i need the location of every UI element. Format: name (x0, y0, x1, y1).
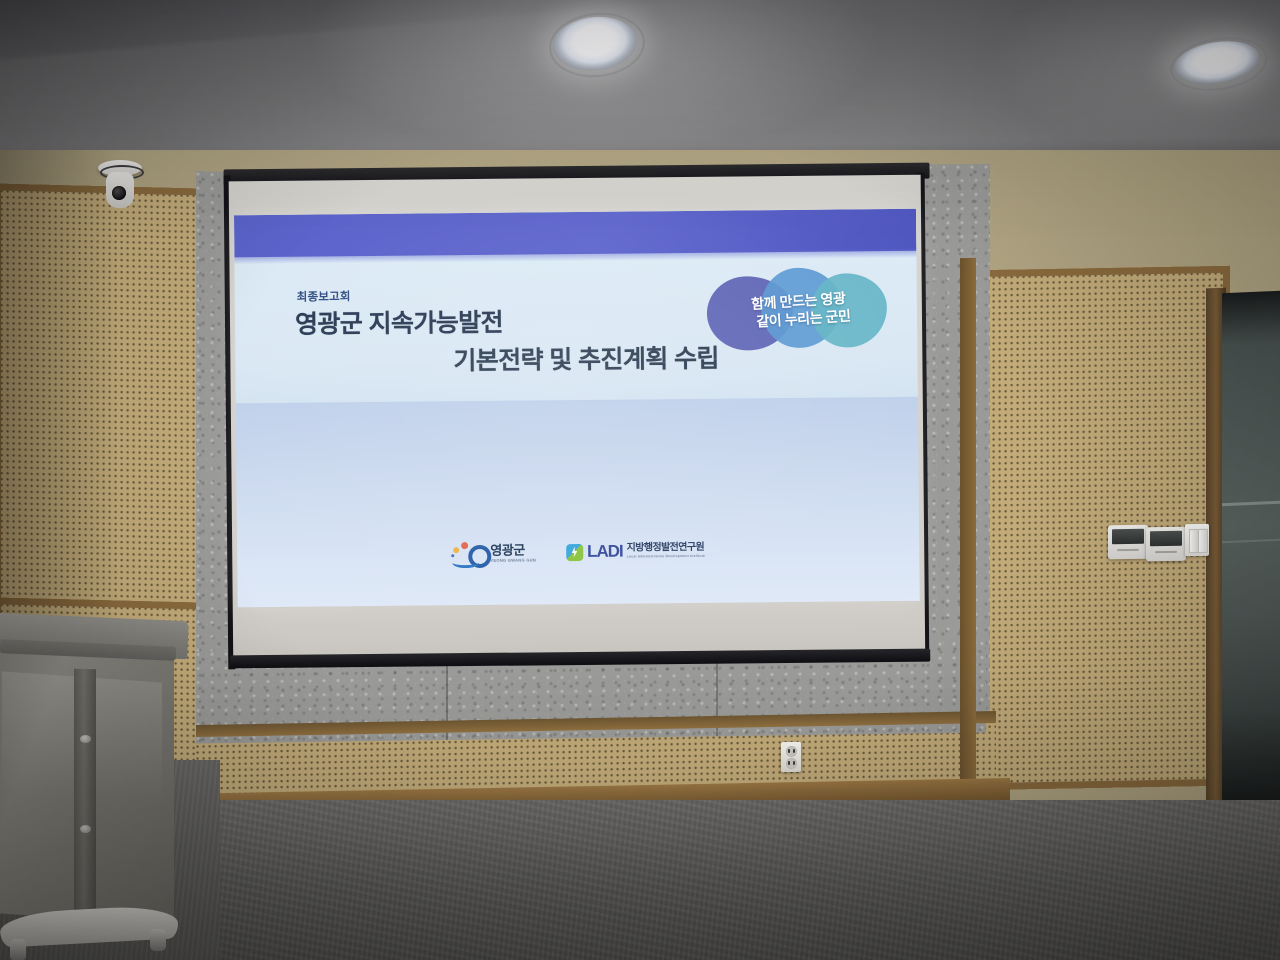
outlet-socket-upper (786, 746, 797, 757)
ladi-logo: LADI 지방행정발전연구원 Local Administration Deve… (566, 541, 705, 562)
lectern-caster-left (10, 939, 26, 960)
conference-room-scene: 최종보고회 영광군 지속가능발전 기본전략 및 추진계획 수립 함께 만드는 영… (0, 0, 1280, 960)
control-panel-button-strip[interactable] (1155, 551, 1177, 553)
ceiling-dome-camera-icon (98, 160, 142, 216)
projected-slide: 최종보고회 영광군 지속가능발전 기본전략 및 추진계획 수립 함께 만드는 영… (234, 209, 920, 608)
wall-outlet[interactable] (781, 742, 801, 772)
ladi-korean-name: 지방행정발전연구원 (627, 543, 705, 554)
ladi-english-name: Local Administration Development Institu… (627, 555, 705, 559)
mobile-lectern[interactable] (0, 617, 202, 960)
yeonggwang-mark-icon (451, 542, 485, 564)
yeonggwang-gun-logo: 영광군 YEONG GWANG GUN (451, 541, 536, 564)
lectern-height-knob-upper[interactable] (80, 735, 91, 743)
light-switch[interactable] (1185, 524, 1209, 556)
control-panel-2[interactable] (1146, 527, 1186, 562)
wall-trim-right (960, 258, 976, 798)
yeonggwang-english-name: YEONG GWANG GUN (490, 558, 536, 562)
door-rail (1222, 539, 1280, 543)
projection-screen: 최종보고회 영광군 지속가능발전 기본전략 및 추진계획 수립 함께 만드는 영… (224, 163, 935, 686)
yeonggwang-slogan-graphic: 함께 만드는 영광 같이 누리는 군민 (706, 265, 889, 355)
yeonggwang-dot-red (461, 542, 468, 549)
ladi-institute-name: 지방행정발전연구원 Local Administration Developme… (627, 543, 706, 559)
control-panel-button-strip[interactable] (1117, 549, 1139, 551)
slide-title-line-1: 영광군 지속가능발전 (295, 303, 503, 341)
lectern-caster-right (150, 929, 166, 951)
slogan-text: 함께 만드는 영광 같이 누리는 군민 (709, 274, 889, 347)
glass-partition-door[interactable] (1222, 291, 1280, 813)
lectern-center-post (74, 669, 96, 931)
slide-title-line-2: 기본전략 및 추진계획 수립 (453, 339, 719, 378)
yeonggwang-wordmark: 영광군 YEONG GWANG GUN (490, 543, 536, 562)
slide-kicker: 최종보고회 (297, 288, 351, 305)
lectern-height-knob-lower[interactable] (80, 825, 91, 833)
control-panel-display (1150, 531, 1182, 547)
control-panel-1[interactable] (1108, 525, 1148, 560)
yeonggwang-korean-name: 영광군 (490, 543, 536, 556)
camera-lens (112, 186, 126, 200)
door-rail (1222, 501, 1280, 506)
slide-footer-logos: 영광군 YEONG GWANG GUN LADI 지방행정발전연구원 Local… (237, 529, 919, 576)
slide-lower-background (236, 397, 920, 608)
control-panel-display (1112, 529, 1144, 545)
light-switch-rocker-2[interactable] (1198, 529, 1208, 553)
yeonggwang-dot-yellow (453, 547, 459, 553)
ladi-bolt-icon (566, 543, 583, 560)
slide-top-band (234, 209, 916, 258)
ladi-wordmark: LADI (587, 542, 623, 562)
outlet-socket-lower (786, 758, 797, 769)
